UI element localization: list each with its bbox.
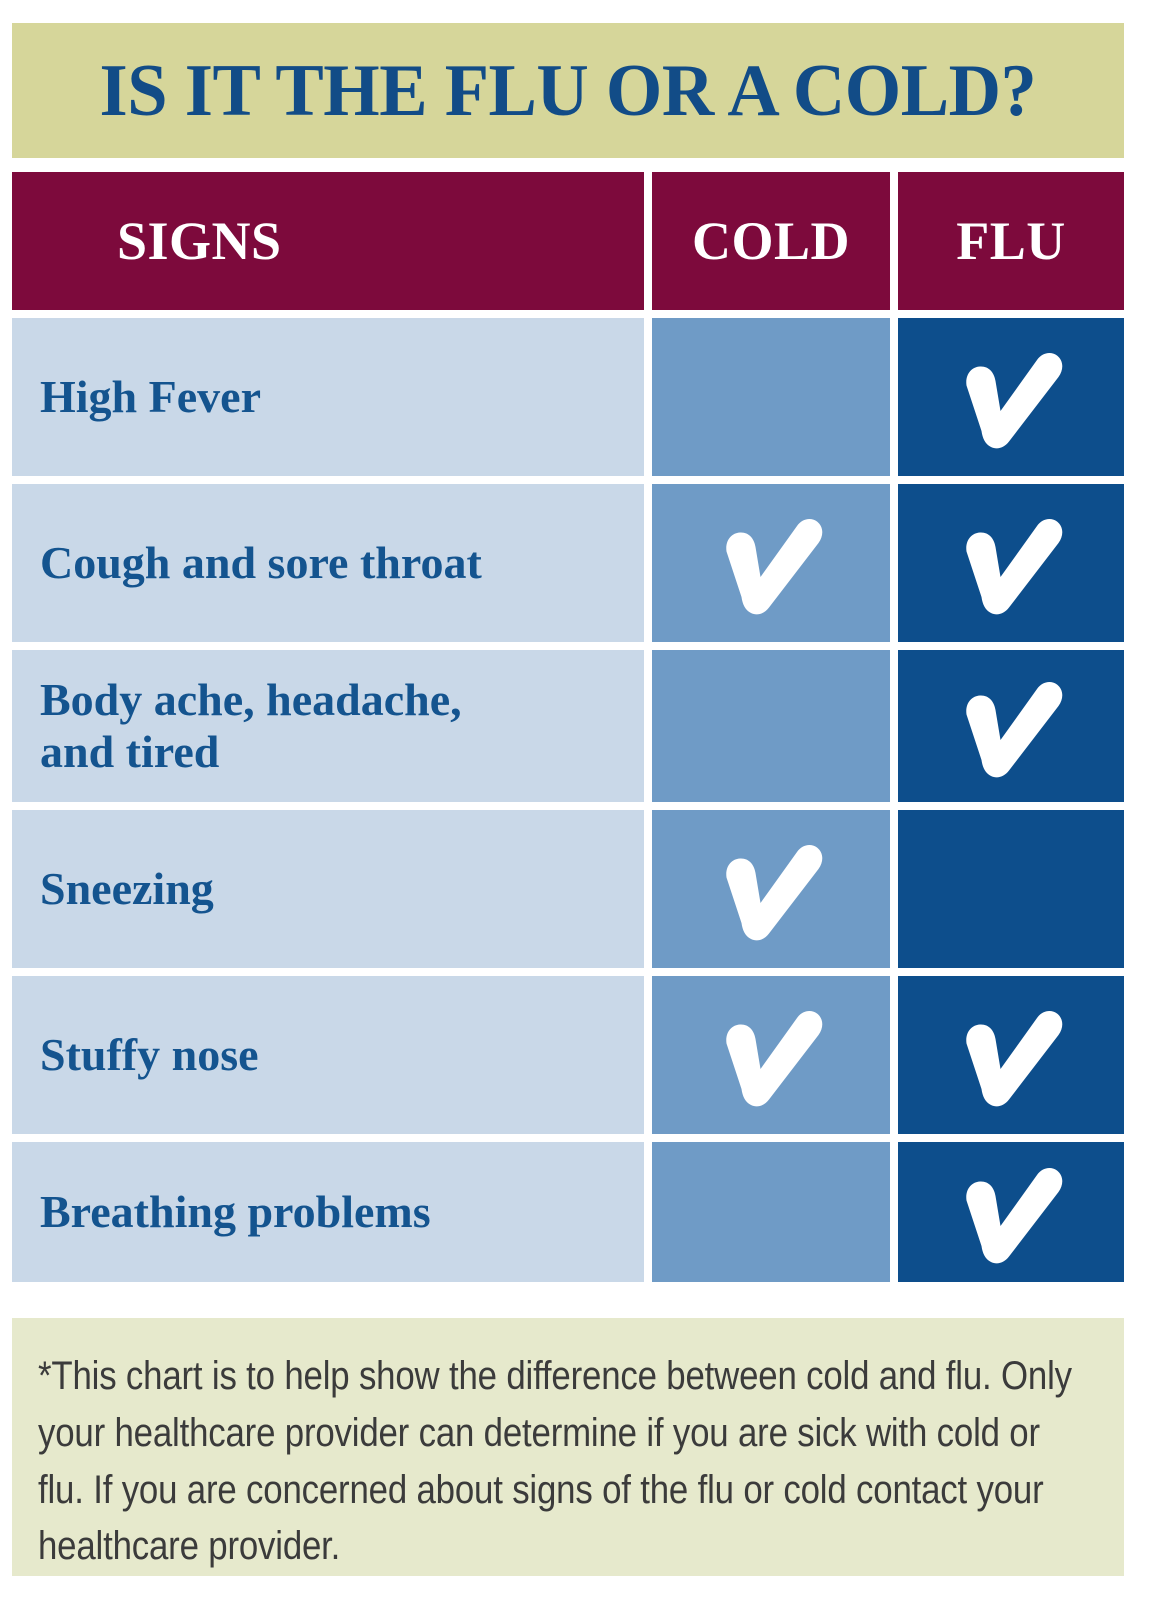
table-header-row: SIGNS COLD FLU [12,172,1124,310]
cold-cell [652,318,890,476]
sign-label: Breathing problems [40,1186,431,1238]
sign-label: High Fever [40,371,261,423]
flu-cell [898,1142,1124,1282]
check-icon [712,511,830,615]
check-icon [952,345,1070,449]
column-header-signs-label: SIGNS [117,214,282,268]
cold-cell [652,976,890,1134]
sign-label: Cough and sore throat [40,537,482,589]
check-icon [952,674,1070,778]
flu-cell [898,484,1124,642]
cold-cell [652,810,890,968]
table-row: High Fever [12,318,1124,476]
sign-cell: Stuffy nose [12,976,644,1134]
column-header-signs: SIGNS [12,172,644,310]
sign-cell: Sneezing [12,810,644,968]
column-header-cold-label: COLD [692,214,850,268]
check-icon [952,1003,1070,1107]
flu-cell [898,318,1124,476]
check-icon [712,1003,830,1107]
table-row: Cough and sore throat [12,484,1124,642]
sign-label: Stuffy nose [40,1029,259,1081]
check-icon [952,511,1070,615]
column-header-flu-label: FLU [956,214,1066,268]
table-row: Sneezing [12,810,1124,968]
cold-cell [652,650,890,802]
table-row: Breathing problems [12,1142,1124,1282]
flu-cell [898,976,1124,1134]
page-title: IS IT THE FLU OR A COLD? [100,54,1037,128]
table-row: Body ache, headache,and tired [12,650,1124,802]
sign-cell: Cough and sore throat [12,484,644,642]
sign-cell: Breathing problems [12,1142,644,1282]
infographic-page: IS IT THE FLU OR A COLD? SIGNS COLD FLU … [0,0,1164,1600]
footer-disclaimer: *This chart is to help show the differen… [12,1318,1124,1576]
check-icon [952,1160,1070,1264]
column-header-cold: COLD [652,172,890,310]
sign-label: Body ache, headache,and tired [40,674,462,777]
disclaimer-text: *This chart is to help show the differen… [38,1348,1091,1575]
flu-cell [898,650,1124,802]
column-header-flu: FLU [898,172,1124,310]
table-row: Stuffy nose [12,976,1124,1134]
cold-cell [652,484,890,642]
sign-cell: Body ache, headache,and tired [12,650,644,802]
flu-cell [898,810,1124,968]
sign-label: Sneezing [40,863,214,915]
title-banner: IS IT THE FLU OR A COLD? [12,23,1124,158]
check-icon [712,837,830,941]
sign-cell: High Fever [12,318,644,476]
comparison-table: SIGNS COLD FLU High Fever [12,172,1124,1282]
cold-cell [652,1142,890,1282]
